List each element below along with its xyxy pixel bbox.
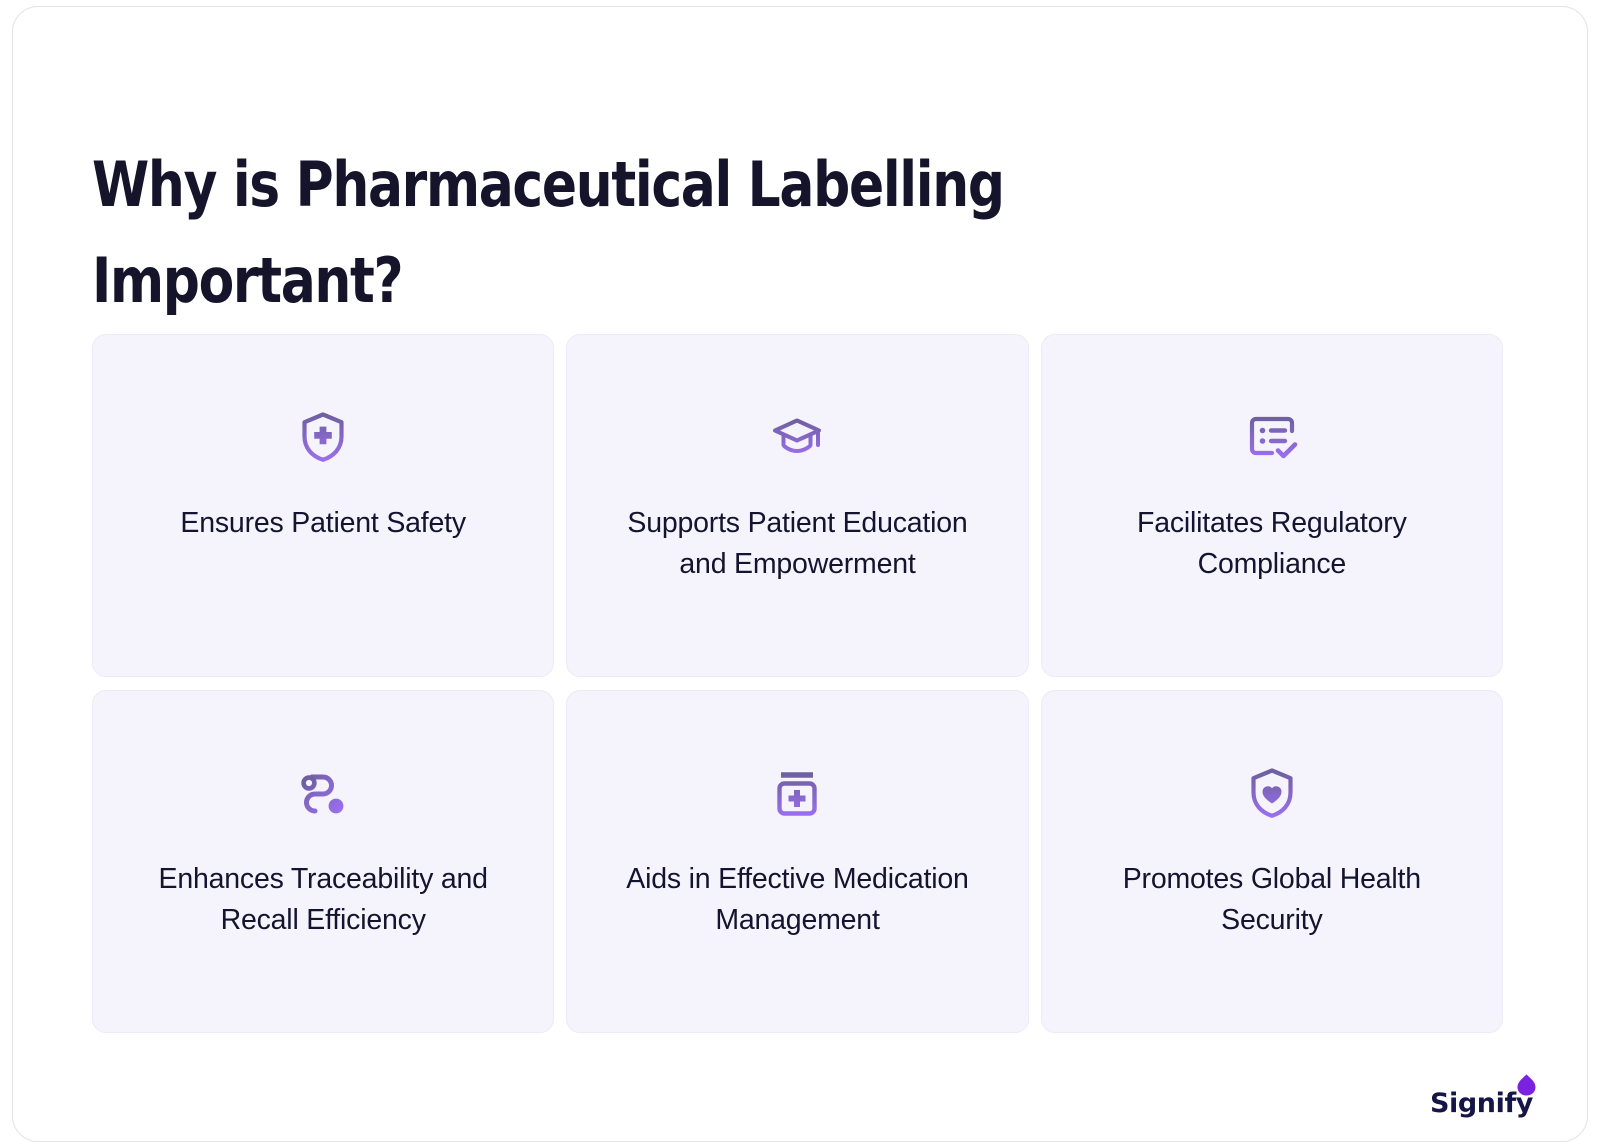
graduation-cap-icon [769,409,825,465]
card-facilitates-regulatory-compliance[interactable]: Facilitates Regulatory Compliance [1041,334,1503,677]
page-canvas: Why is Pharmaceutical Labelling Importan… [12,6,1588,1142]
card-ensures-patient-safety[interactable]: Ensures Patient Safety [92,334,554,677]
card-label: Facilitates Regulatory Compliance [1078,503,1465,585]
card-label: Aids in Effective Medication Management [604,859,991,941]
card-label: Enhances Traceability and Recall Efficie… [130,859,517,941]
route-trace-icon [295,765,351,821]
shield-plus-icon [295,409,351,465]
signify-logo: Signify [1430,1088,1533,1119]
card-label: Promotes Global Health Security [1078,859,1465,941]
card-label: Ensures Patient Safety [130,503,517,544]
leaf-mark-icon [1517,1074,1536,1096]
shield-heart-icon [1244,765,1300,821]
card-label: Supports Patient Education and Empowerme… [604,503,991,585]
card-promotes-global-health-security[interactable]: Promotes Global Health Security [1041,690,1503,1033]
clipboard-check-list-icon [1244,409,1300,465]
card-supports-patient-education[interactable]: Supports Patient Education and Empowerme… [566,334,1028,677]
pill-bottle-icon [769,765,825,821]
card-enhances-traceability[interactable]: Enhances Traceability and Recall Efficie… [92,690,554,1033]
card-aids-in-effective-medication-management[interactable]: Aids in Effective Medication Management [566,690,1028,1033]
benefits-card-grid: Ensures Patient Safety Supports Patient … [92,334,1503,1033]
page-title: Why is Pharmaceutical Labelling Importan… [92,137,1189,329]
